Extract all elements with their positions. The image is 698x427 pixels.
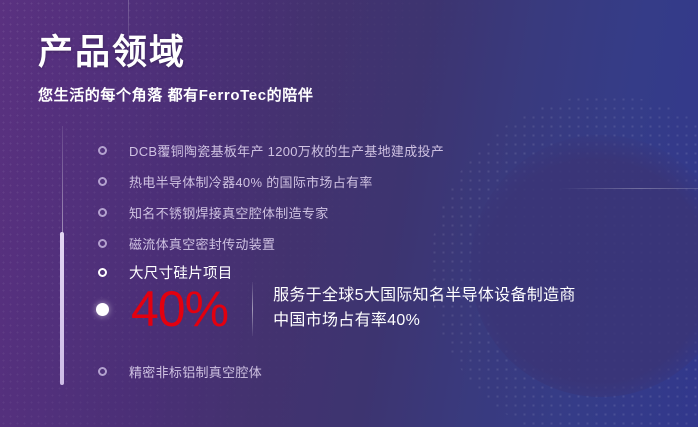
feature-list: DCB覆铜陶瓷基板年产 1200万枚的生产基地建成投产 热电半导体制冷器40% … xyxy=(0,0,698,427)
highlight-stat-block: 40% 服务于全球5大国际知名半导体设备制造商 中国市场占有率40% xyxy=(98,282,576,336)
bullet-marker-icon xyxy=(98,367,107,376)
list-item[interactable]: 磁流体真空密封传动装置 xyxy=(98,234,275,253)
list-item-label: DCB覆铜陶瓷基板年产 1200万枚的生产基地建成投产 xyxy=(129,141,444,160)
list-item-label: 精密非标铝制真空腔体 xyxy=(129,362,262,381)
highlight-line-2: 中国市场占有率40% xyxy=(273,312,420,329)
list-item-active[interactable]: 大尺寸硅片项目 xyxy=(98,262,233,283)
list-item-label: 知名不锈钢焊接真空腔体制造专家 xyxy=(129,203,329,222)
bullet-marker-icon xyxy=(98,146,107,155)
highlight-description: 服务于全球5大国际知名半导体设备制造商 中国市场占有率40% xyxy=(273,284,576,334)
bullet-marker-icon xyxy=(98,177,107,186)
bullet-marker-active-icon xyxy=(98,268,107,277)
list-item[interactable]: DCB覆铜陶瓷基板年产 1200万枚的生产基地建成投产 xyxy=(98,141,444,160)
bullet-marker-icon xyxy=(98,239,107,248)
list-item-label: 大尺寸硅片项目 xyxy=(129,262,233,283)
list-item[interactable]: 热电半导体制冷器40% 的国际市场占有率 xyxy=(98,172,373,191)
highlight-divider xyxy=(252,282,253,336)
highlight-percent: 40% xyxy=(131,284,228,334)
bullet-marker-filled-icon xyxy=(96,303,109,316)
list-item[interactable]: 精密非标铝制真空腔体 xyxy=(98,362,262,381)
list-item[interactable]: 知名不锈钢焊接真空腔体制造专家 xyxy=(98,203,329,222)
list-item-label: 热电半导体制冷器40% 的国际市场占有率 xyxy=(129,172,373,191)
bullet-marker-icon xyxy=(98,208,107,217)
product-domain-banner: 产品领域 您生活的每个角落 都有FerroTec的陪伴 DCB覆铜陶瓷基板年产 … xyxy=(0,0,698,427)
list-item-label: 磁流体真空密封传动装置 xyxy=(129,234,275,253)
highlight-line-1: 服务于全球5大国际知名半导体设备制造商 xyxy=(273,287,576,304)
